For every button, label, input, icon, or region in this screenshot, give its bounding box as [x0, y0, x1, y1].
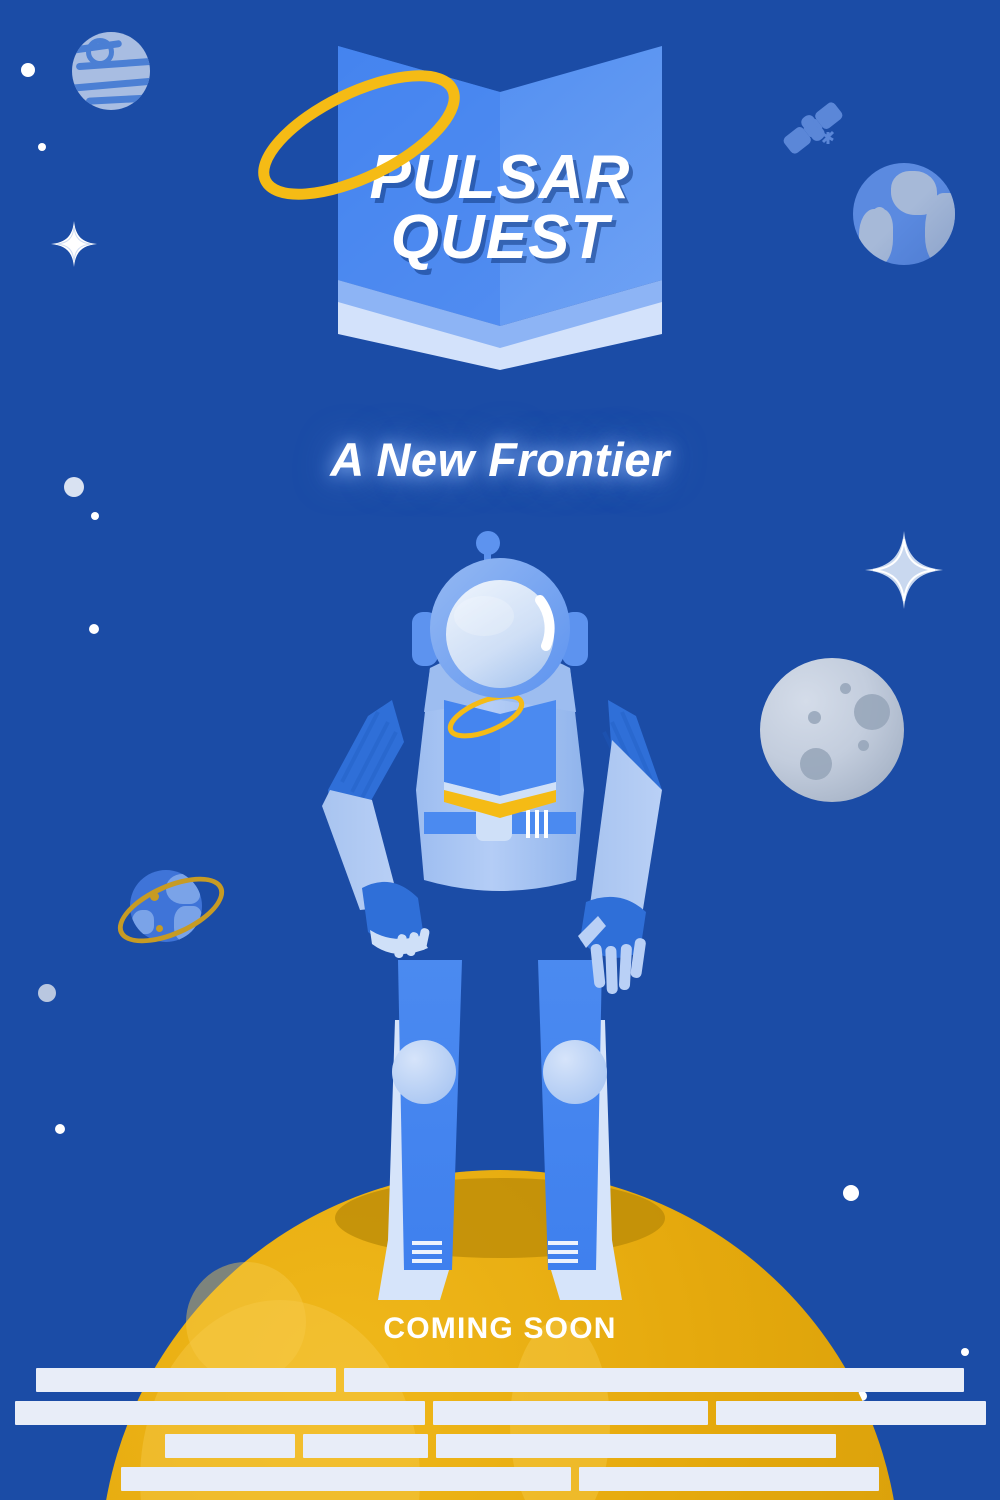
- poster-canvas: PULSAR QUEST A New Frontier: [0, 0, 1000, 1500]
- placeholder-bar: [716, 1401, 986, 1425]
- placeholder-bar-row: [0, 1401, 1000, 1425]
- star-dot: [38, 984, 56, 1002]
- ground-shadow: [335, 1178, 665, 1258]
- placeholder-bar: [36, 1368, 336, 1392]
- placeholder-bar: [433, 1401, 708, 1425]
- star-dot: [89, 624, 99, 634]
- star-dot: [843, 1185, 859, 1201]
- star-dot: [55, 1124, 65, 1134]
- placeholder-bar-row: [0, 1368, 1000, 1392]
- placeholder-bar: [165, 1434, 295, 1458]
- placeholder-bar: [436, 1434, 836, 1458]
- placeholder-bars: [0, 1368, 1000, 1500]
- logo-badge: PULSAR QUEST: [320, 40, 680, 370]
- subtitle: A New Frontier: [0, 432, 1000, 487]
- placeholder-bar: [15, 1401, 425, 1425]
- placeholder-bar: [121, 1467, 571, 1491]
- ringed-planet-icon: [118, 858, 214, 954]
- four-point-star-icon: [862, 528, 946, 612]
- coming-soon-label: COMING SOON: [0, 1312, 1000, 1346]
- placeholder-bar-row: [0, 1434, 1000, 1458]
- logo-badge-wrap: PULSAR QUEST: [0, 40, 1000, 440]
- star-dot: [961, 1348, 969, 1356]
- placeholder-bar: [303, 1434, 428, 1458]
- moon-icon: [760, 658, 904, 802]
- placeholder-bar: [344, 1368, 964, 1392]
- star-dot: [91, 512, 99, 520]
- placeholder-bar: [579, 1467, 879, 1491]
- placeholder-bar-row: [0, 1467, 1000, 1491]
